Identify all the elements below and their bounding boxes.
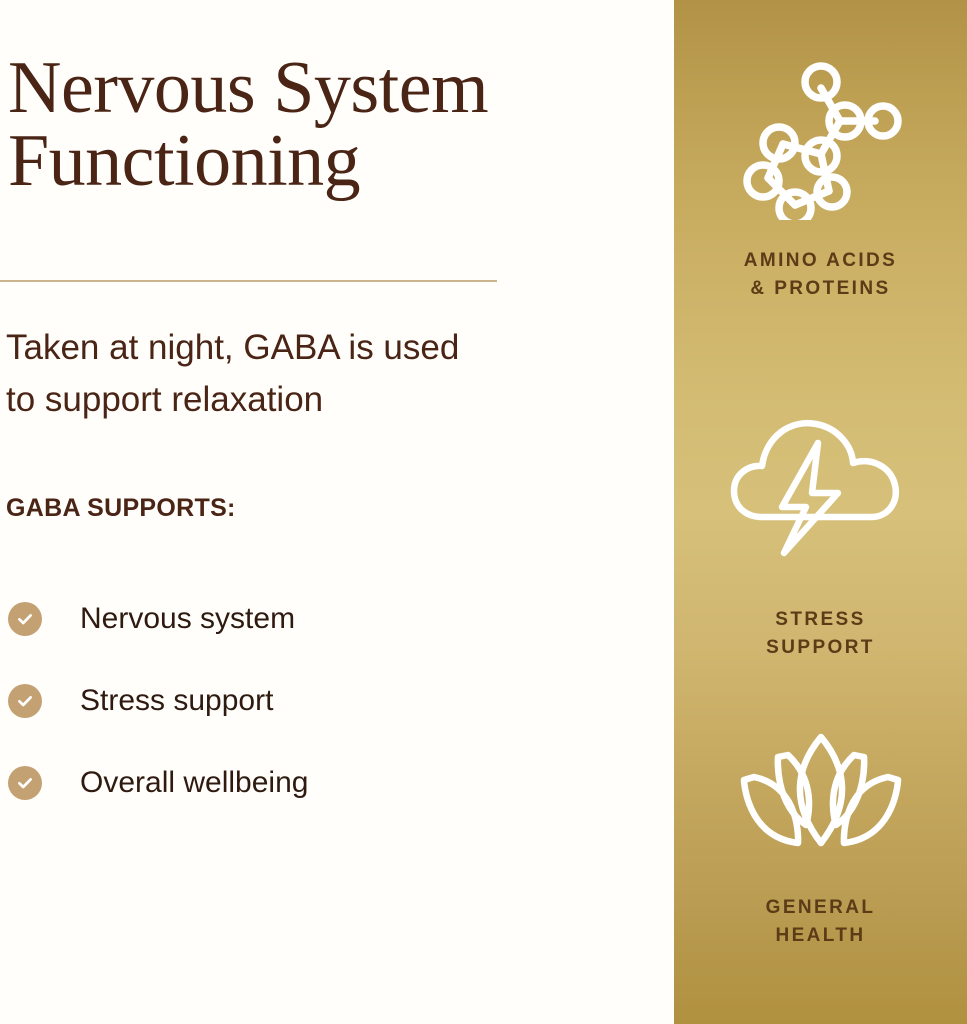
check-icon: [8, 684, 42, 718]
page-title-line-1: Nervous System: [8, 47, 488, 129]
feature-label-line-2: HEALTH: [766, 922, 876, 950]
feature-amino-acids-proteins: AMINO ACIDS & PROTEINS: [674, 48, 967, 302]
benefits-list: Nervous system Stress support Overall we…: [8, 578, 628, 824]
storm-cloud-icon: [726, 405, 916, 570]
molecule-icon: [735, 48, 907, 225]
title-divider: [0, 280, 497, 282]
list-item-label: Stress support: [80, 686, 273, 716]
feature-label: STRESS SUPPORT: [766, 606, 875, 661]
benefits-heading: GABA SUPPORTS:: [6, 494, 236, 523]
lotus-flower-icon: [736, 725, 906, 860]
list-item: Nervous system: [8, 578, 628, 660]
feature-label: GENERAL HEALTH: [766, 894, 876, 949]
feature-label-line-1: STRESS: [775, 609, 865, 630]
list-item: Stress support: [8, 660, 628, 742]
list-item: Overall wellbeing: [8, 742, 628, 824]
product-info-graphic: Nervous System Functioning Taken at nigh…: [0, 0, 967, 1024]
feature-stress-support: STRESS SUPPORT: [674, 405, 967, 661]
feature-label-line-1: GENERAL: [766, 897, 876, 918]
feature-sidebar: AMINO ACIDS & PROTEINS STRESS SUPPORT: [674, 0, 967, 1024]
check-icon: [8, 766, 42, 800]
check-icon: [8, 602, 42, 636]
feature-label-line-2: SUPPORT: [766, 634, 875, 662]
feature-label-line-2: & PROTEINS: [744, 275, 897, 303]
subheading-line-1: Taken at night, GABA is used: [6, 328, 459, 367]
subheading-line-2: to support relaxation: [6, 374, 606, 426]
list-item-label: Overall wellbeing: [80, 768, 308, 798]
feature-general-health: GENERAL HEALTH: [674, 725, 967, 949]
feature-label: AMINO ACIDS & PROTEINS: [744, 247, 897, 302]
subheading: Taken at night, GABA is used to support …: [6, 322, 606, 426]
feature-label-line-1: AMINO ACIDS: [744, 250, 897, 271]
left-content-panel: Nervous System Functioning Taken at nigh…: [0, 0, 674, 1024]
page-title: Nervous System Functioning: [8, 52, 648, 199]
list-item-label: Nervous system: [80, 604, 295, 634]
page-title-line-2: Functioning: [8, 125, 648, 198]
